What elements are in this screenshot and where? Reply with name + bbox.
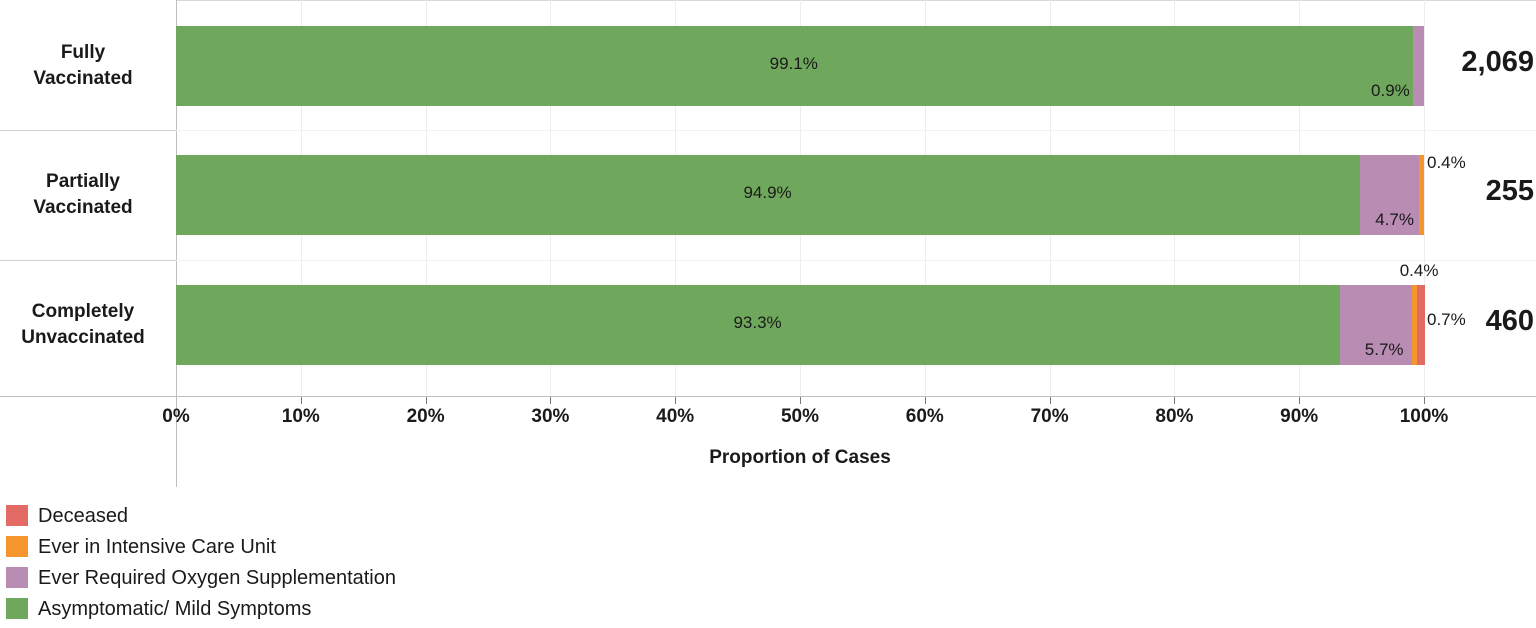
category-label-line2: Unvaccinated	[0, 325, 166, 351]
segment-value-label: 99.1%	[749, 54, 839, 74]
segment-value-label: 0.7%	[1427, 310, 1517, 330]
x-tick-mark	[675, 397, 676, 404]
category-label-line1: Partially	[0, 169, 166, 195]
legend-label: Asymptomatic/ Mild Symptoms	[38, 598, 311, 620]
x-tick-mark	[550, 397, 551, 404]
legend-swatch-icon	[6, 567, 28, 588]
x-axis-title: Proportion of Cases	[176, 447, 1424, 469]
x-tick-label: 90%	[1254, 406, 1344, 428]
row-separator-2	[0, 260, 177, 261]
category-label-line1: Completely	[0, 299, 166, 325]
legend-swatch-icon	[6, 505, 28, 526]
row-separator-right-1	[176, 130, 1536, 131]
x-tick-mark	[925, 397, 926, 404]
x-tick-mark	[800, 397, 801, 404]
segment-value-label: 4.7%	[1324, 210, 1414, 230]
row-separator-1	[0, 130, 177, 131]
x-tick-label: 80%	[1129, 406, 1219, 428]
row-separator-right-2	[176, 260, 1536, 261]
legend-label: Ever Required Oxygen Supplementation	[38, 567, 396, 589]
x-tick-label: 60%	[880, 406, 970, 428]
category-label-2: PartiallyVaccinated	[0, 169, 166, 221]
legend-swatch-icon	[6, 598, 28, 619]
x-tick-mark	[1424, 397, 1425, 404]
legend-item-2[interactable]: Ever in Intensive Care Unit	[6, 531, 766, 562]
segment-value-label: 0.4%	[1427, 153, 1517, 173]
row-total-value: 255	[1486, 175, 1534, 208]
x-tick-label: 0%	[131, 406, 221, 428]
x-tick-label: 70%	[1005, 406, 1095, 428]
category-label-line2: Vaccinated	[0, 195, 166, 221]
category-label-line2: Vaccinated	[0, 66, 166, 92]
x-tick-label: 20%	[381, 406, 471, 428]
bar-segment[interactable]	[1419, 155, 1424, 235]
x-tick-mark	[1174, 397, 1175, 404]
x-tick-label: 40%	[630, 406, 720, 428]
segment-value-label: 94.9%	[723, 183, 813, 203]
x-tick-mark	[1299, 397, 1300, 404]
category-label-line1: Fully	[0, 40, 166, 66]
legend-item-1[interactable]: Deceased	[6, 500, 766, 531]
segment-value-label: 0.9%	[1320, 81, 1410, 101]
legend-label: Ever in Intensive Care Unit	[38, 536, 276, 558]
legend-swatch-icon	[6, 536, 28, 557]
segment-value-label: 93.3%	[713, 313, 803, 333]
bar-segment[interactable]	[1417, 285, 1426, 365]
segment-value-label: 5.7%	[1314, 340, 1404, 360]
x-tick-label: 30%	[505, 406, 595, 428]
category-label-3: CompletelyUnvaccinated	[0, 299, 166, 351]
chart-top-frame	[176, 0, 1536, 1]
x-tick-label: 50%	[755, 406, 845, 428]
legend-item-3[interactable]: Ever Required Oxygen Supplementation	[6, 562, 766, 593]
x-axis-line	[0, 396, 1536, 397]
legend-label: Deceased	[38, 505, 128, 527]
category-label-1: FullyVaccinated	[0, 40, 166, 92]
row-total-value: 2,069	[1461, 46, 1534, 79]
x-tick-mark	[301, 397, 302, 404]
chart-legend: DeceasedEver in Intensive Care UnitEver …	[6, 500, 766, 624]
legend-item-4[interactable]: Asymptomatic/ Mild Symptoms	[6, 593, 766, 624]
x-tick-mark	[1050, 397, 1051, 404]
stacked-bar-chart: FullyVaccinatedPartiallyVaccinatedComple…	[0, 0, 1536, 628]
x-tick-label: 100%	[1379, 406, 1469, 428]
x-tick-label: 10%	[256, 406, 346, 428]
x-tick-mark	[426, 397, 427, 404]
bar-segment[interactable]	[1413, 26, 1424, 106]
segment-value-label: 0.4%	[1374, 261, 1464, 281]
